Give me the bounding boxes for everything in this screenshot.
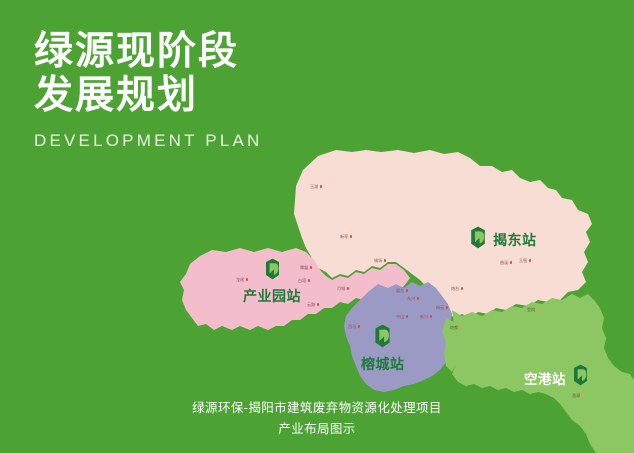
city-label: 梅云 xyxy=(436,305,444,310)
city-dot-icon xyxy=(430,315,432,317)
poster-canvas: 绿源现阶段 发展规划 DEVELOPMENT PLAN 产业园站 揭东站 xyxy=(0,0,634,453)
title-line-2: 发展规划 xyxy=(34,74,263,118)
city-dot-icon xyxy=(384,259,386,261)
station-marker-industrial-park[interactable]: 产业园站 xyxy=(243,258,301,306)
city-dot-icon xyxy=(537,308,539,310)
city-dot-icon xyxy=(461,287,463,289)
city-marker: 曲溪 xyxy=(500,260,512,265)
city-dot-icon xyxy=(317,303,319,305)
station-label-airport: 空港站 xyxy=(524,368,566,388)
caption-line-2: 产业布局图示 xyxy=(0,419,634,440)
city-marker: 云路 xyxy=(307,302,319,307)
title-subtitle: DEVELOPMENT PLAN xyxy=(34,131,263,151)
city-dot-icon xyxy=(510,261,512,263)
city-dot-icon xyxy=(320,185,322,187)
city-label: 中山 xyxy=(396,314,404,319)
city-marker: 玉湖 xyxy=(310,184,322,189)
city-dot-icon xyxy=(358,325,360,327)
city-label: 锡场 xyxy=(374,258,382,263)
city-dot-icon xyxy=(350,235,352,237)
city-dot-icon xyxy=(406,315,408,317)
city-dot-icon xyxy=(446,306,448,308)
lvyuan-leaf-logo-icon xyxy=(263,258,282,285)
city-marker: 中山 xyxy=(396,314,408,319)
city-marker: 玉窖 xyxy=(519,258,531,263)
city-dot-icon xyxy=(529,259,531,261)
city-dot-icon xyxy=(460,326,462,328)
city-marker: 东兴 xyxy=(407,296,419,301)
lvyuan-leaf-logo-icon xyxy=(468,226,488,254)
city-label: 磐东 xyxy=(396,288,404,293)
city-dot-icon xyxy=(582,394,584,396)
city-dot-icon xyxy=(347,287,349,289)
city-label: 地都 xyxy=(450,325,458,330)
station-marker-airport[interactable]: 空港站 xyxy=(524,364,590,391)
station-marker-jiedong[interactable]: 揭东站 xyxy=(468,226,537,254)
city-dot-icon xyxy=(308,279,310,281)
city-marker: 新亭 xyxy=(340,234,352,239)
city-dot-icon xyxy=(310,266,312,268)
city-marker: 月城 xyxy=(337,286,349,291)
lvyuan-leaf-logo-icon xyxy=(571,364,590,391)
title-block: 绿源现阶段 发展规划 DEVELOPMENT PLAN xyxy=(34,30,263,151)
city-marker: 磐东 xyxy=(396,288,408,293)
city-marker: 霖磐 xyxy=(300,265,312,270)
city-label: 新亭 xyxy=(340,234,348,239)
city-dot-icon xyxy=(406,289,408,291)
city-marker: 梅云 xyxy=(436,305,448,310)
city-label: 曲溪 xyxy=(500,260,508,265)
lvyuan-leaf-logo-icon xyxy=(372,324,393,353)
city-label: 新兴 xyxy=(420,314,428,319)
city-label: 登岗 xyxy=(527,307,535,312)
station-label-rongcheng: 榕城站 xyxy=(361,354,405,374)
caption-block: 绿源环保-揭阳市建筑废弃物资源化处理项目 产业布局图示 xyxy=(0,398,634,440)
city-marker: 锡场 xyxy=(374,258,386,263)
station-label-industrial-park: 产业园站 xyxy=(243,286,301,306)
city-marker: 地都 xyxy=(450,325,462,330)
city-dot-icon xyxy=(417,297,419,299)
caption-line-1: 绿源环保-揭阳市建筑废弃物资源化处理项目 xyxy=(0,398,634,419)
city-label: 玉窖 xyxy=(519,258,527,263)
city-label: 玉湖 xyxy=(310,184,318,189)
city-label: 东兴 xyxy=(407,296,415,301)
city-label: 云路 xyxy=(307,302,315,307)
station-marker-rongcheng[interactable]: 榕城站 xyxy=(361,324,405,374)
city-label: 炮台 xyxy=(451,286,459,291)
city-marker: 西马 xyxy=(348,324,360,329)
city-marker: 登岗 xyxy=(527,307,539,312)
title-line-1: 绿源现阶段 xyxy=(34,30,263,74)
city-label: 月城 xyxy=(337,286,345,291)
city-label: 霖磐 xyxy=(300,265,308,270)
city-marker: 新兴 xyxy=(420,314,432,319)
city-marker: 炮台 xyxy=(451,286,463,291)
station-label-jiedong: 揭东站 xyxy=(493,230,537,250)
city-label: 西马 xyxy=(348,324,356,329)
